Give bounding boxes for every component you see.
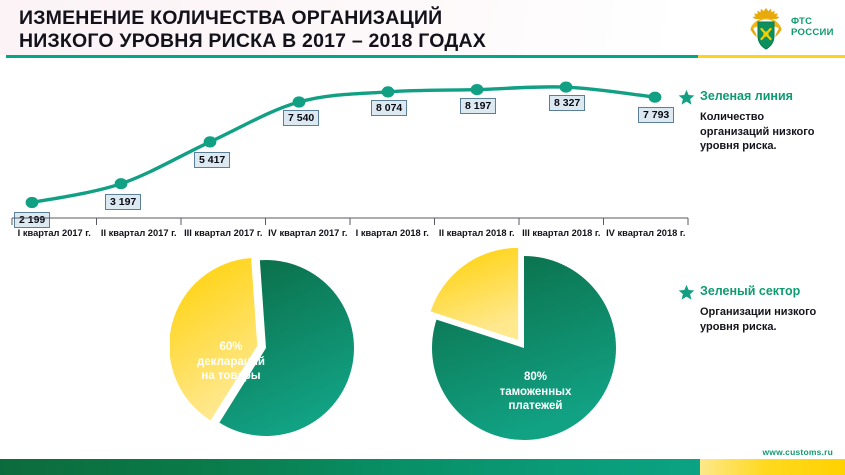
legend-green-sector-head: Зеленый сектор <box>678 283 843 303</box>
legend-green-line-head: Зеленая линия <box>678 88 843 108</box>
axis-category-label: III квартал 2017 г. <box>181 227 266 240</box>
legend-green-sector-body: Организации низкого уровня риска. <box>700 305 843 334</box>
axis-category-label: IV квартал 2018 г. <box>604 227 689 240</box>
legend-green-line: Зеленая линия Количество организаций низ… <box>678 88 843 154</box>
star-icon <box>678 284 695 301</box>
axis-category-label: III квартал 2018 г. <box>519 227 604 240</box>
line-data-point[interactable] <box>293 96 306 107</box>
header-divider-green <box>6 55 698 58</box>
pie-chart-declarations-plot <box>170 250 370 445</box>
legend-green-sector: Зеленый сектор Организации низкого уровн… <box>678 283 843 334</box>
logo-text: ФТС РОССИИ <box>791 16 834 38</box>
axis-category-label: II квартал 2018 г. <box>435 227 520 240</box>
line-data-point[interactable] <box>26 197 39 208</box>
line-chart-category-labels: I квартал 2017 г.II квартал 2017 г.III к… <box>0 227 700 245</box>
pie-chart-payments <box>420 248 630 448</box>
pie-chart-payments-plot <box>420 248 630 448</box>
star-icon <box>678 89 695 106</box>
legend-green-sector-title: Зеленый сектор <box>700 284 800 298</box>
line-value-label: 7 540 <box>283 110 319 126</box>
line-data-point[interactable] <box>115 178 128 189</box>
line-data-point[interactable] <box>471 84 484 95</box>
line-value-label: 8 327 <box>549 95 585 111</box>
header-band: ИЗМЕНЕНИЕ КОЛИЧЕСТВА ОРГАНИЗАЦИЙ НИЗКОГО… <box>0 0 845 55</box>
pie-chart-declarations <box>170 250 370 445</box>
double-headed-eagle-emblem-icon <box>745 6 787 50</box>
line-chart-axis <box>0 215 700 227</box>
legend-green-line-title: Зеленая линия <box>700 89 793 103</box>
header-divider <box>0 55 845 59</box>
footer-bar-green <box>0 459 700 475</box>
line-value-label: 7 793 <box>638 107 674 123</box>
line-data-point[interactable] <box>382 86 395 97</box>
line-data-point[interactable] <box>649 92 662 103</box>
slide-root: ИЗМЕНЕНИЕ КОЛИЧЕСТВА ОРГАНИЗАЦИЙ НИЗКОГО… <box>0 0 845 475</box>
line-value-label: 3 197 <box>105 194 141 210</box>
line-chart: 2 1993 1975 4177 5408 0748 1978 3277 793 <box>0 60 700 240</box>
line-chart-plot <box>0 60 700 240</box>
page-title: ИЗМЕНЕНИЕ КОЛИЧЕСТВА ОРГАНИЗАЦИЙ НИЗКОГО… <box>19 7 639 53</box>
axis-category-label: IV квартал 2017 г. <box>266 227 351 240</box>
legend-green-line-body: Количество организаций низкого уровня ри… <box>700 110 843 154</box>
line-value-label: 8 197 <box>460 98 496 114</box>
footer-url[interactable]: www.customs.ru <box>763 447 834 457</box>
line-value-label: 8 074 <box>371 100 407 116</box>
axis-category-label: I квартал 2018 г. <box>350 227 435 240</box>
line-data-point[interactable] <box>560 82 573 93</box>
fts-logo: ФТС РОССИИ <box>745 6 840 50</box>
axis-category-label: I квартал 2017 г. <box>12 227 97 240</box>
footer-bar-yellow <box>700 459 845 475</box>
footer-bar <box>0 459 845 475</box>
header-divider-yellow <box>698 55 845 58</box>
axis-category-label: II квартал 2017 г. <box>97 227 182 240</box>
line-data-point[interactable] <box>204 136 217 147</box>
line-value-label: 5 417 <box>194 152 230 168</box>
